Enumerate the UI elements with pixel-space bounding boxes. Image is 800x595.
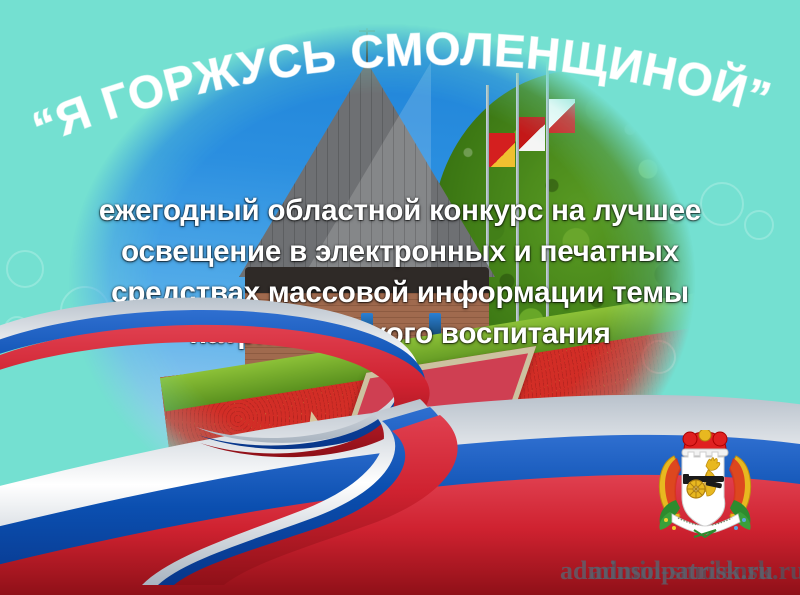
poster-canvas: “Я ГОРЖУСЬ СМОЛЕНЩИНОЙ” ежегодный област… bbox=[0, 0, 800, 595]
coat-of-arms-smolensk-oblast bbox=[650, 430, 760, 550]
body-line-1: ежегодный областной конкурс на лучшее bbox=[18, 190, 782, 231]
coa-shield bbox=[682, 452, 725, 527]
watermark-front-text: adminsolpatrisk.ru bbox=[560, 556, 773, 586]
arc-title-textpath: “Я ГОРЖУСЬ СМОЛЕНЩИНОЙ” bbox=[25, 23, 777, 148]
site-watermark: admin-smolensk.ru adminsolpatrisk.ru bbox=[560, 556, 800, 590]
arc-title-text: “Я ГОРЖУСЬ СМОЛЕНЩИНОЙ” bbox=[25, 23, 777, 148]
arc-title: “Я ГОРЖУСЬ СМОЛЕНЩИНОЙ” bbox=[0, 18, 800, 148]
ribbon-upper-loop bbox=[0, 298, 430, 458]
body-line-2: освещение в электронных и печатных bbox=[18, 231, 782, 272]
